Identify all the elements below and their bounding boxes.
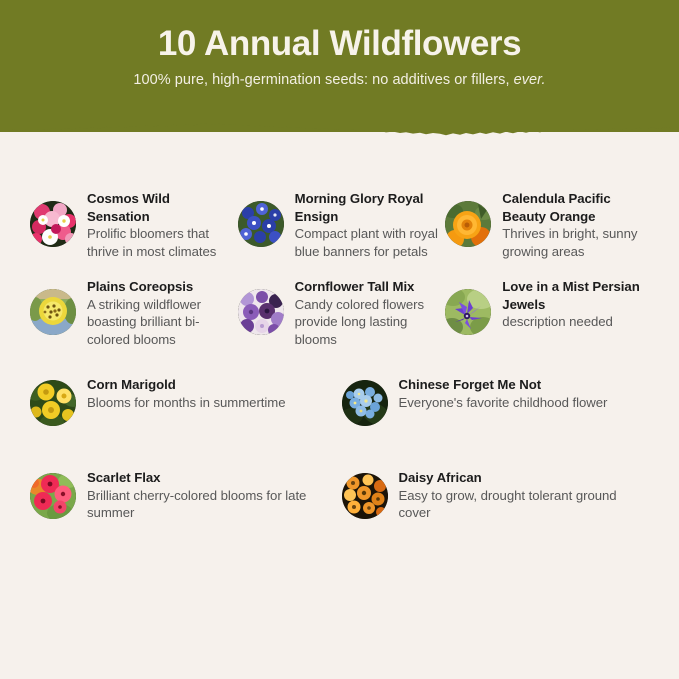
thumbnail-image bbox=[238, 201, 284, 247]
cornflower-purple-mix-thumbnail bbox=[238, 289, 284, 335]
list-item[interactable]: Love in a Mist Persian Jewels descriptio… bbox=[445, 278, 653, 348]
list-item[interactable]: Scarlet Flax Brilliant cherry-colored bl… bbox=[30, 469, 342, 522]
flower-description: A striking wildflower boasting brilliant… bbox=[87, 296, 232, 349]
subtitle-emphasis: ever. bbox=[514, 72, 546, 88]
love-in-a-mist-purple-flower-thumbnail bbox=[445, 289, 491, 335]
african-daisy-orange-flowers-thumbnail bbox=[342, 473, 388, 519]
flower-name: Cosmos Wild Sensation bbox=[87, 190, 232, 225]
flower-name: Corn Marigold bbox=[87, 376, 286, 394]
thumbnail-image bbox=[30, 289, 76, 335]
flower-name: Morning Glory Royal Ensign bbox=[295, 190, 440, 225]
flower-description: Everyone's favorite childhood flower bbox=[399, 394, 608, 412]
list-item[interactable]: Plains Coreopsis A striking wildflower b… bbox=[30, 278, 238, 348]
thumbnail-image bbox=[30, 473, 76, 519]
seed-packet-page: 10 Annual Wildflowers 100% pure, high-ge… bbox=[0, 0, 679, 679]
thumbnail-image bbox=[30, 201, 76, 247]
flower-description: description needed bbox=[502, 313, 647, 331]
item-text: Scarlet Flax Brilliant cherry-colored bl… bbox=[76, 469, 334, 522]
flower-row: Scarlet Flax Brilliant cherry-colored bl… bbox=[0, 469, 679, 522]
flower-name: Scarlet Flax bbox=[87, 469, 334, 487]
item-text: Chinese Forget Me Not Everyone's favorit… bbox=[388, 376, 608, 411]
list-item[interactable]: Daisy African Easy to grow, drought tole… bbox=[342, 469, 654, 522]
list-item[interactable]: Cornflower Tall Mix Candy colored flower… bbox=[238, 278, 446, 348]
flower-description: Compact plant with royal blue banners fo… bbox=[295, 225, 440, 260]
header-content: 10 Annual Wildflowers 100% pure, high-ge… bbox=[0, 0, 679, 89]
item-text: Calendula Pacific Beauty Orange Thrives … bbox=[491, 190, 647, 260]
cosmos-pink-flowers-thumbnail bbox=[30, 201, 76, 247]
flower-name: Love in a Mist Persian Jewels bbox=[502, 278, 647, 313]
coreopsis-yellow-flowers-thumbnail bbox=[30, 289, 76, 335]
item-text: Corn Marigold Blooms for months in summe… bbox=[76, 376, 286, 411]
page-title: 10 Annual Wildflowers bbox=[0, 23, 679, 65]
list-item[interactable]: Calendula Pacific Beauty Orange Thrives … bbox=[445, 190, 653, 260]
forget-me-not-blue-flowers-thumbnail bbox=[342, 380, 388, 426]
corn-marigold-yellow-flowers-thumbnail bbox=[30, 380, 76, 426]
flower-description: Candy colored flowers provide long lasti… bbox=[295, 296, 440, 349]
item-text: Love in a Mist Persian Jewels descriptio… bbox=[491, 278, 647, 331]
item-text: Cornflower Tall Mix Candy colored flower… bbox=[284, 278, 440, 348]
item-text: Cosmos Wild Sensation Prolific bloomers … bbox=[76, 190, 232, 260]
morning-glory-blue-flowers-thumbnail bbox=[238, 201, 284, 247]
flower-description: Easy to grow, drought tolerant ground co… bbox=[399, 487, 646, 522]
thumbnail-image bbox=[445, 289, 491, 335]
thumbnail-image bbox=[445, 201, 491, 247]
thumbnail-image bbox=[342, 473, 388, 519]
item-text: Daisy African Easy to grow, drought tole… bbox=[388, 469, 646, 522]
calendula-orange-flower-thumbnail bbox=[445, 201, 491, 247]
flower-description: Prolific bloomers that thrive in most cl… bbox=[87, 225, 232, 260]
thumbnail-image bbox=[30, 380, 76, 426]
list-item[interactable]: Cosmos Wild Sensation Prolific bloomers … bbox=[30, 190, 238, 260]
flower-name: Daisy African bbox=[399, 469, 646, 487]
list-item[interactable]: Corn Marigold Blooms for months in summe… bbox=[30, 376, 342, 426]
scarlet-flax-red-flowers-thumbnail bbox=[30, 473, 76, 519]
flower-row: Corn Marigold Blooms for months in summe… bbox=[0, 376, 679, 426]
flower-name: Cornflower Tall Mix bbox=[295, 278, 440, 296]
flower-description: Blooms for months in summertime bbox=[87, 394, 286, 412]
flower-description: Thrives in bright, sunny growing areas bbox=[502, 225, 647, 260]
flower-name: Chinese Forget Me Not bbox=[399, 376, 608, 394]
page-subtitle: 100% pure, high-germination seeds: no ad… bbox=[0, 71, 679, 89]
subtitle-text: 100% pure, high-germination seeds: no ad… bbox=[133, 72, 509, 88]
torn-paper-edge-icon bbox=[0, 110, 679, 144]
thumbnail-image bbox=[342, 380, 388, 426]
flower-description: Brilliant cherry-colored blooms for late… bbox=[87, 487, 334, 522]
list-item[interactable]: Chinese Forget Me Not Everyone's favorit… bbox=[342, 376, 654, 426]
item-text: Plains Coreopsis A striking wildflower b… bbox=[76, 278, 232, 348]
item-text: Morning Glory Royal Ensign Compact plant… bbox=[284, 190, 440, 260]
flower-name: Calendula Pacific Beauty Orange bbox=[502, 190, 647, 225]
flower-row: Cosmos Wild Sensation Prolific bloomers … bbox=[0, 190, 679, 260]
flower-list: Cosmos Wild Sensation Prolific bloomers … bbox=[0, 144, 679, 522]
list-item[interactable]: Morning Glory Royal Ensign Compact plant… bbox=[238, 190, 446, 260]
flower-name: Plains Coreopsis bbox=[87, 278, 232, 296]
flower-row: Plains Coreopsis A striking wildflower b… bbox=[0, 278, 679, 348]
thumbnail-image bbox=[238, 289, 284, 335]
